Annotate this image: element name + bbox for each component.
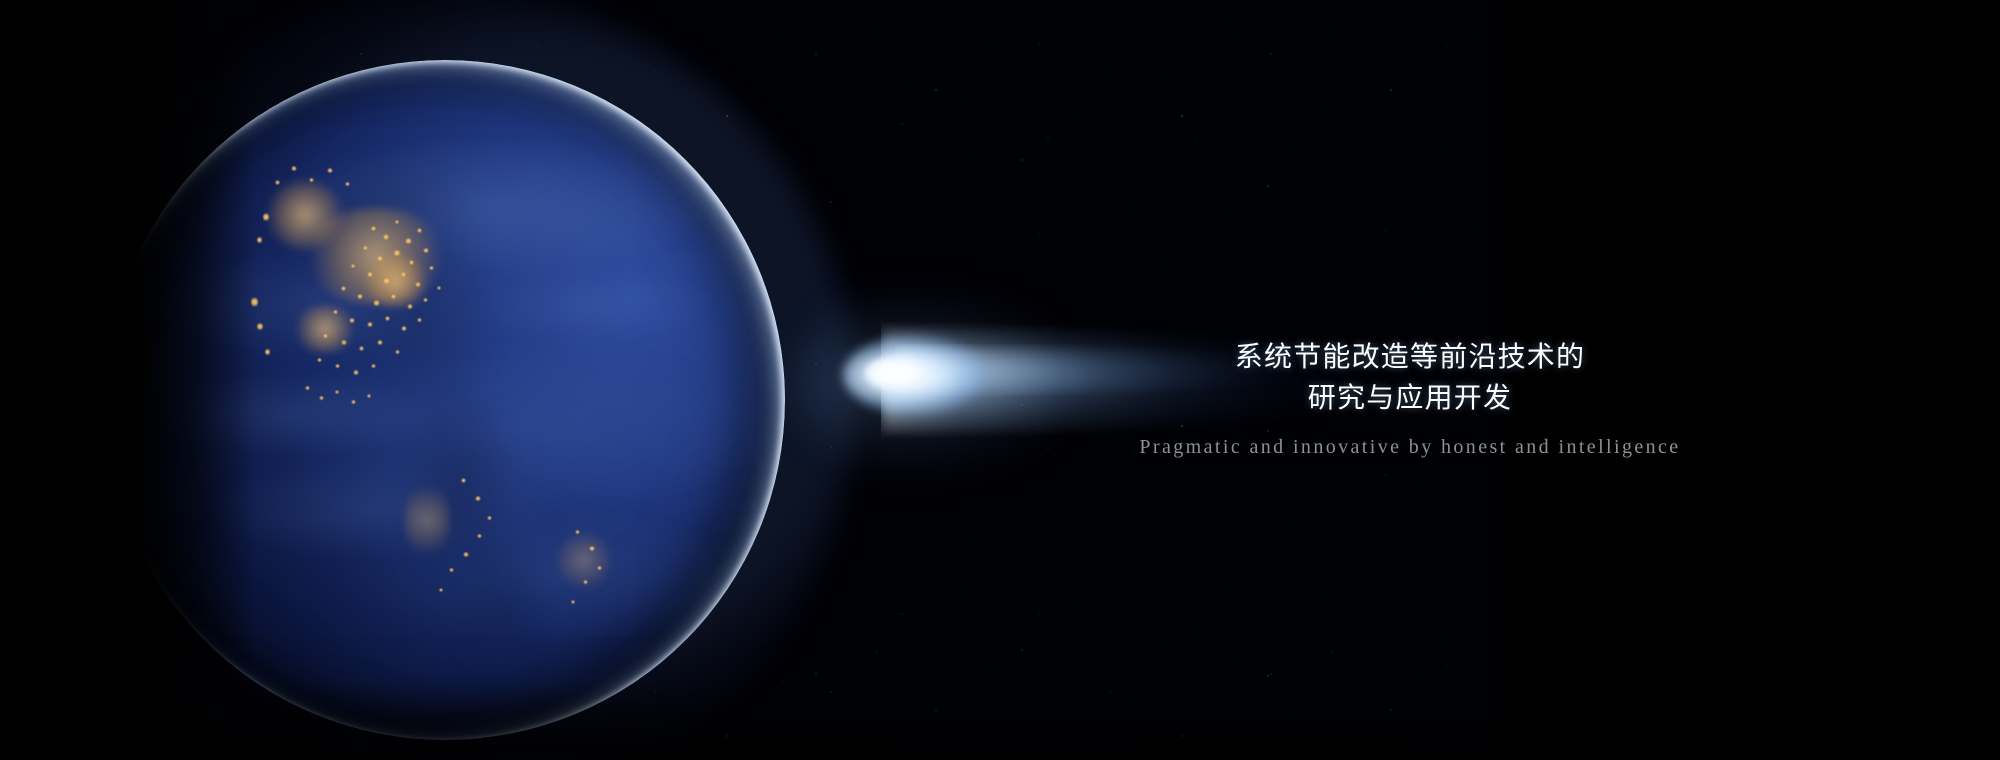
hero-banner: 系统节能改造等前沿技术的 研究与应用开发 Pragmatic and innov… (0, 0, 2000, 760)
headline-line-2: 研究与应用开发 (1060, 377, 1760, 418)
photo-vignette-bottom (135, 680, 1500, 760)
banner-text-block: 系统节能改造等前沿技术的 研究与应用开发 Pragmatic and innov… (1060, 336, 1760, 460)
tagline: Pragmatic and innovative by honest and i… (1060, 434, 1760, 460)
photo-vignette-left (135, 0, 255, 760)
headline-line-1: 系统节能改造等前沿技术的 (1060, 336, 1760, 377)
